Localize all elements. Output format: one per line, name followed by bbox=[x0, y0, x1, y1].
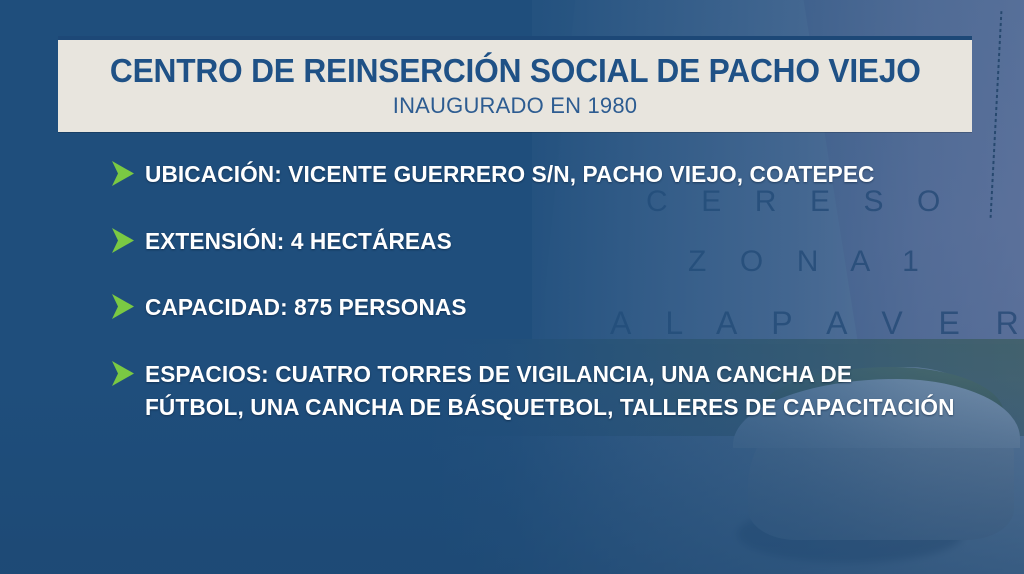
green-arrow-icon bbox=[110, 226, 136, 256]
list-item-text: ESPACIOS: CUATRO TORRES DE VIGILANCIA, U… bbox=[145, 358, 955, 423]
list-item: EXTENSIÓN: 4 HECTÁREAS bbox=[110, 225, 990, 258]
page-subtitle: INAUGURADO EN 1980 bbox=[393, 94, 637, 118]
list-item-text: EXTENSIÓN: 4 HECTÁREAS bbox=[145, 225, 452, 258]
list-item: CAPACIDAD: 875 PERSONAS bbox=[110, 291, 990, 324]
green-arrow-icon bbox=[110, 159, 136, 189]
title-banner: CENTRO DE REINSERCIÓN SOCIAL DE PACHO VI… bbox=[58, 36, 972, 132]
green-arrow-icon bbox=[110, 359, 136, 389]
list-item-line-1: ESPACIOS: CUATRO TORRES DE VIGILANCIA, U… bbox=[145, 361, 852, 387]
list-item-line-2: FÚTBOL, UNA CANCHA DE BÁSQUETBOL, TALLER… bbox=[145, 391, 955, 424]
green-arrow-icon bbox=[110, 292, 136, 322]
list-item-text: CAPACIDAD: 875 PERSONAS bbox=[145, 291, 467, 324]
list-item: ESPACIOS: CUATRO TORRES DE VIGILANCIA, U… bbox=[110, 358, 990, 423]
list-item: UBICACIÓN: VICENTE GUERRERO S/N, PACHO V… bbox=[110, 158, 990, 191]
info-slide: C E R E S O Z O N A 1 A L A P A V E R CE… bbox=[0, 0, 1024, 574]
list-item-line-1: UBICACIÓN: VICENTE GUERRERO S/N, PACHO V… bbox=[145, 161, 875, 187]
list-item-line-1: EXTENSIÓN: 4 HECTÁREAS bbox=[145, 228, 452, 254]
list-item-text: UBICACIÓN: VICENTE GUERRERO S/N, PACHO V… bbox=[145, 158, 875, 191]
bullet-list: UBICACIÓN: VICENTE GUERRERO S/N, PACHO V… bbox=[110, 158, 990, 423]
page-title: CENTRO DE REINSERCIÓN SOCIAL DE PACHO VI… bbox=[110, 54, 921, 89]
list-item-line-1: CAPACIDAD: 875 PERSONAS bbox=[145, 294, 467, 320]
